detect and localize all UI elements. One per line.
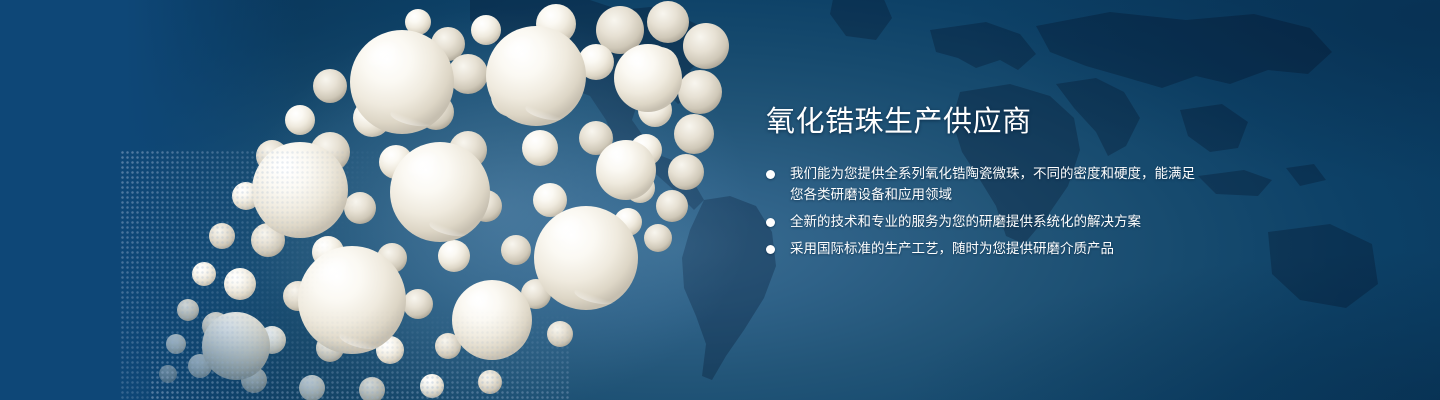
- bullet-dot-icon: [766, 218, 775, 227]
- bullet-text: 采用国际标准的生产工艺，随时为您提供研磨介质产品: [790, 241, 1114, 257]
- list-item: 全新的技术和专业的服务为您的研磨提供系统化的解决方案: [766, 212, 1196, 233]
- list-item: 采用国际标准的生产工艺，随时为您提供研磨介质产品: [766, 239, 1196, 260]
- feature-bullet-list: 我们能为您提供全系列氧化锆陶瓷微珠，不同的密度和硬度，能满足您各类研磨设备和应用…: [766, 164, 1366, 260]
- banner-copy-block: 氧化锆珠生产供应商 我们能为您提供全系列氧化锆陶瓷微珠，不同的密度和硬度，能满足…: [766, 106, 1366, 260]
- bullet-text: 全新的技术和专业的服务为您的研磨提供系统化的解决方案: [790, 214, 1141, 230]
- bullet-text: 我们能为您提供全系列氧化锆陶瓷微珠，不同的密度和硬度，能满足您各类研磨设备和应用…: [790, 166, 1195, 203]
- list-item: 我们能为您提供全系列氧化锆陶瓷微珠，不同的密度和硬度，能满足您各类研磨设备和应用…: [766, 164, 1196, 206]
- hero-banner: 氧化锆珠生产供应商 我们能为您提供全系列氧化锆陶瓷微珠，不同的密度和硬度，能满足…: [0, 0, 1440, 400]
- bullet-dot-icon: [766, 245, 775, 254]
- bullet-dot-icon: [766, 170, 775, 179]
- zirconia-bead-photo: [0, 0, 760, 400]
- page-title: 氧化锆珠生产供应商: [766, 106, 1366, 138]
